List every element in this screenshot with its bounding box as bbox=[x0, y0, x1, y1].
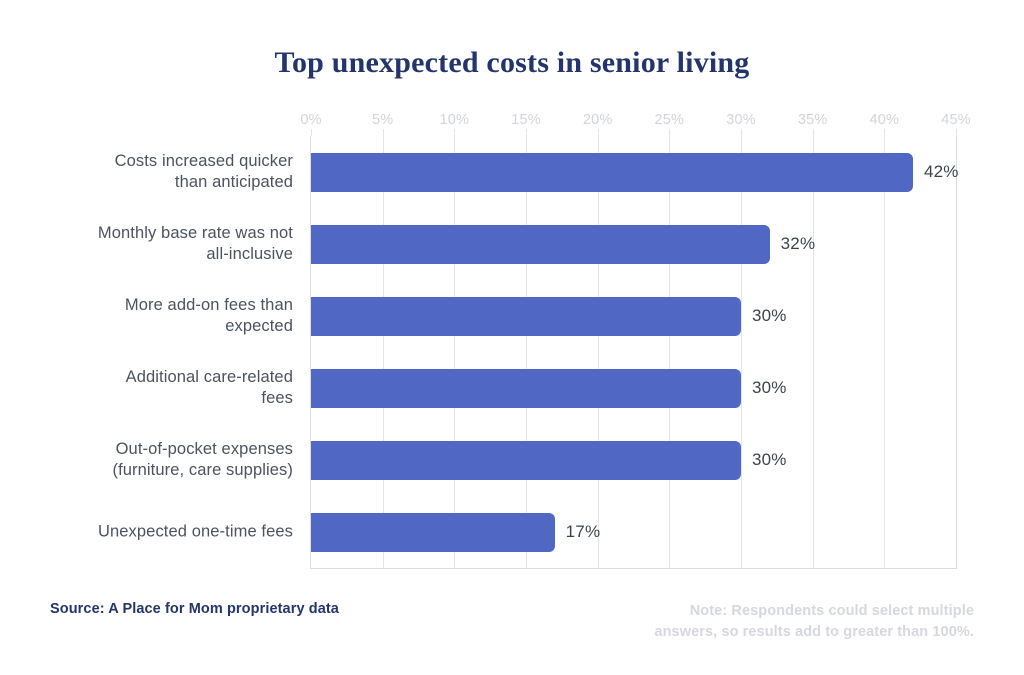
chart-row: Costs increased quicker than anticipated… bbox=[311, 153, 956, 192]
x-axis-tick-mark bbox=[741, 129, 742, 136]
x-axis-tick-mark bbox=[598, 129, 599, 136]
gridline bbox=[526, 136, 527, 568]
gridline bbox=[383, 136, 384, 568]
gridline bbox=[741, 136, 742, 568]
category-label: Additional care-related fees bbox=[25, 367, 293, 409]
x-axis-tick-label: 5% bbox=[372, 112, 393, 128]
bar[interactable] bbox=[311, 225, 770, 264]
x-axis-tick-label: 40% bbox=[870, 112, 900, 128]
x-axis-tick-mark bbox=[454, 129, 455, 136]
category-label: Out-of-pocket expenses (furniture, care … bbox=[25, 439, 293, 481]
x-axis-tick-mark bbox=[311, 129, 312, 136]
bar[interactable] bbox=[311, 369, 741, 408]
page-title: Top unexpected costs in senior living bbox=[0, 46, 1024, 80]
chart-row: Unexpected one-time fees17% bbox=[311, 513, 956, 552]
bar-value-label: 32% bbox=[781, 234, 816, 254]
bar-value-label: 17% bbox=[566, 522, 601, 542]
x-axis-tick-label: 45% bbox=[941, 112, 971, 128]
bar-value-label: 42% bbox=[924, 162, 959, 182]
category-label: Costs increased quicker than anticipated bbox=[25, 151, 293, 193]
bar[interactable] bbox=[311, 297, 741, 336]
x-axis-tick-label: 20% bbox=[583, 112, 613, 128]
x-axis-tick-label: 30% bbox=[726, 112, 756, 128]
x-axis-tick-mark bbox=[526, 129, 527, 136]
x-axis-tick-mark bbox=[956, 129, 957, 136]
x-axis-tick-mark bbox=[383, 129, 384, 136]
chart-card: Top unexpected costs in senior living 0%… bbox=[0, 0, 1024, 675]
bar-value-label: 30% bbox=[752, 450, 787, 470]
chart-row: Out-of-pocket expenses (furniture, care … bbox=[311, 441, 956, 480]
gridline bbox=[454, 136, 455, 568]
x-axis-tick-mark bbox=[669, 129, 670, 136]
x-axis-tick-mark bbox=[813, 129, 814, 136]
chart-row: Additional care-related fees30% bbox=[311, 369, 956, 408]
bar[interactable] bbox=[311, 441, 741, 480]
bar[interactable] bbox=[311, 153, 913, 192]
category-label: More add-on fees than expected bbox=[25, 295, 293, 337]
gridline bbox=[813, 136, 814, 568]
category-label: Unexpected one-time fees bbox=[25, 522, 293, 543]
x-axis-tick-label: 10% bbox=[440, 112, 470, 128]
source-caption: Source: A Place for Mom proprietary data bbox=[50, 601, 339, 617]
category-label: Monthly base rate was not all-inclusive bbox=[25, 223, 293, 265]
chart-row: Monthly base rate was not all-inclusive3… bbox=[311, 225, 956, 264]
x-axis-tick-label: 35% bbox=[798, 112, 828, 128]
plot-area: 0%5%10%15%20%25%30%35%40%45%Costs increa… bbox=[310, 136, 957, 569]
gridline bbox=[598, 136, 599, 568]
footnote: Note: Respondents could select multiple … bbox=[614, 601, 974, 643]
bar-value-label: 30% bbox=[752, 306, 787, 326]
x-axis-tick-label: 0% bbox=[300, 112, 321, 128]
gridline bbox=[884, 136, 885, 568]
bar-value-label: 30% bbox=[752, 378, 787, 398]
x-axis-tick-label: 25% bbox=[655, 112, 685, 128]
bar[interactable] bbox=[311, 513, 555, 552]
x-axis-tick-label: 15% bbox=[511, 112, 541, 128]
x-axis-tick-mark bbox=[884, 129, 885, 136]
gridline bbox=[669, 136, 670, 568]
chart-row: More add-on fees than expected30% bbox=[311, 297, 956, 336]
